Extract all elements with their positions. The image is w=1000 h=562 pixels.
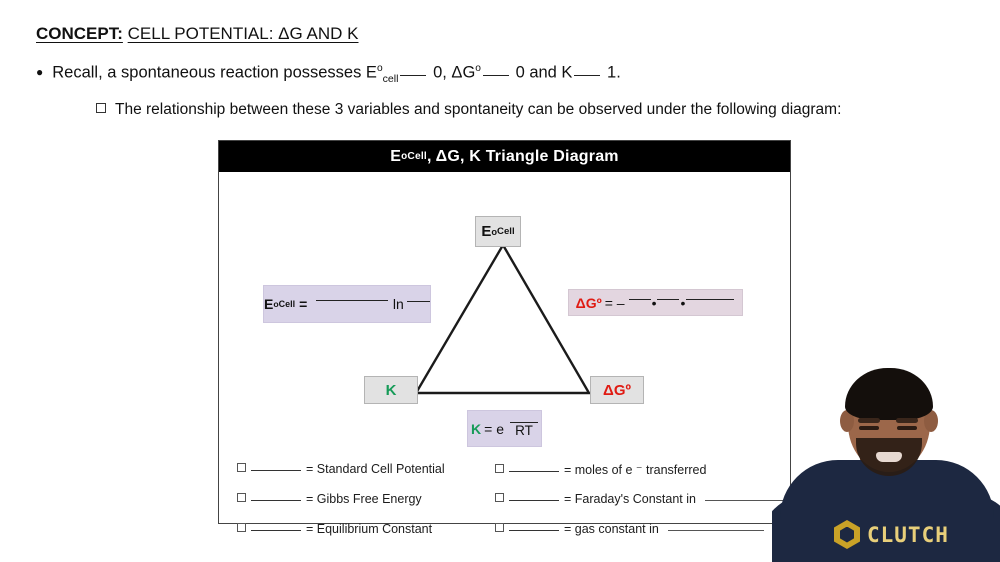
mouth [876, 452, 902, 462]
eq-ecell-e: E [264, 296, 273, 312]
legend-item[interactable]: = Standard Cell Potential [237, 462, 445, 476]
bullet-dot-icon: ● [36, 66, 43, 78]
diagram-title-bar: EoCell, ΔG, K Triangle Diagram [219, 141, 790, 172]
page-title: CONCEPT: CELL POTENTIAL: ΔG AND K [36, 24, 359, 44]
eq-ecell-blank [407, 301, 430, 302]
eq-ecell-sub: Cell [279, 299, 295, 309]
legend-unit-blank [668, 530, 764, 531]
eq-k-denominator: RT [515, 423, 533, 438]
clutch-logo: CLUTCH [834, 520, 949, 549]
diagram-title-cell: Cell [407, 151, 427, 162]
eq-dg-blank-e [686, 299, 734, 300]
legend-blank [509, 530, 559, 531]
bullet-recall: ● Recall, a spontaneous reaction possess… [36, 63, 621, 85]
blank-2 [483, 75, 509, 76]
diagram-title-e: E [390, 148, 401, 166]
node-ecell[interactable]: EoCell [475, 216, 521, 247]
eq-ecell-ln: ln [393, 296, 404, 312]
diagram-title-rest: , ΔG, K Triangle Diagram [427, 148, 619, 166]
legend-blank [509, 471, 559, 472]
legend-square-icon [237, 463, 246, 472]
triangle-diagram-panel: EoCell, ΔG, K Triangle Diagram EoCell K … [218, 140, 791, 524]
node-delta-g[interactable]: ΔGº [590, 376, 644, 404]
eq-ecell-fraction-bar [316, 300, 388, 301]
clutch-wordmark: CLUTCH [867, 523, 949, 547]
legend-text: = moles of e ⁻ transferred [564, 462, 706, 477]
legend-blank [251, 470, 301, 471]
eq-k-equals: = e [484, 421, 504, 437]
legend-item[interactable]: = Gibbs Free Energy [237, 492, 422, 506]
legend-blank [251, 500, 301, 501]
equation-k: K = e RT [467, 410, 542, 447]
legend-square-icon [495, 464, 504, 473]
eq-k-label: K [471, 421, 481, 437]
eq-dg-label: ΔGº [576, 295, 602, 311]
hexagon-icon [834, 520, 860, 549]
eq-dg-blank-n [629, 299, 651, 300]
square-bullet-icon [96, 103, 106, 113]
diagram-canvas: EoCell K ΔGº EoCell = ln ΔGº = – • • [219, 172, 790, 523]
eq-dg-dot-1: • [652, 295, 657, 311]
eq-ecell-equals: = [299, 296, 307, 312]
concept-title: CELL POTENTIAL: ΔG AND K [128, 24, 359, 43]
node-ecell-sub: Cell [497, 226, 515, 237]
degree-sign-2: o [475, 63, 481, 74]
legend-square-icon [237, 523, 246, 532]
eye-right [897, 426, 917, 430]
node-k[interactable]: K [364, 376, 418, 404]
legend-item[interactable]: = Faraday's Constant in [495, 492, 801, 506]
legend-text: = Faraday's Constant in [564, 492, 696, 506]
concept-label: CONCEPT: [36, 24, 123, 43]
legend-square-icon [495, 523, 504, 532]
blank-3 [574, 75, 600, 76]
eq-dg-blank-f [657, 299, 679, 300]
eq-k-exponent-fraction: RT [510, 414, 538, 438]
eq-dg-equals: = – [605, 295, 625, 311]
legend-blank [509, 500, 559, 501]
eq-k-numerator-blank [510, 414, 538, 423]
equation-delta-g: ΔGº = – • • [568, 289, 743, 316]
legend-text: = Standard Cell Potential [306, 462, 445, 476]
legend-blank [251, 530, 301, 531]
bullet-recall-text: Recall, a spontaneous reaction possesses… [52, 63, 621, 85]
node-ecell-e: E [481, 223, 491, 240]
eyebrow-right [896, 418, 918, 423]
bullet-relationship: The relationship between these 3 variabl… [96, 101, 841, 119]
eq-dg-dot-2: • [680, 295, 685, 311]
hair [845, 368, 933, 420]
bullet-relationship-text: The relationship between these 3 variabl… [115, 101, 841, 119]
instructor-webcam-overlay[interactable]: CLUTCH [772, 352, 1000, 562]
eye-left [859, 426, 879, 430]
legend-square-icon [495, 493, 504, 502]
legend-item[interactable]: = moles of e ⁻ transferred [495, 462, 706, 477]
cell-subscript: cell [383, 73, 399, 85]
node-k-label: K [386, 382, 397, 399]
legend-text: = gas constant in [564, 522, 659, 536]
legend-text: = Equilibrium Constant [306, 522, 432, 536]
legend-item[interactable]: = gas constant in [495, 522, 764, 536]
blank-1 [400, 75, 426, 76]
eyebrow-left [858, 418, 880, 423]
legend-item[interactable]: = Equilibrium Constant [237, 522, 432, 536]
legend-square-icon [237, 493, 246, 502]
legend-text: = Gibbs Free Energy [306, 492, 422, 506]
node-delta-g-label: ΔGº [603, 382, 631, 399]
equation-ecell: EoCell = ln [263, 285, 431, 323]
